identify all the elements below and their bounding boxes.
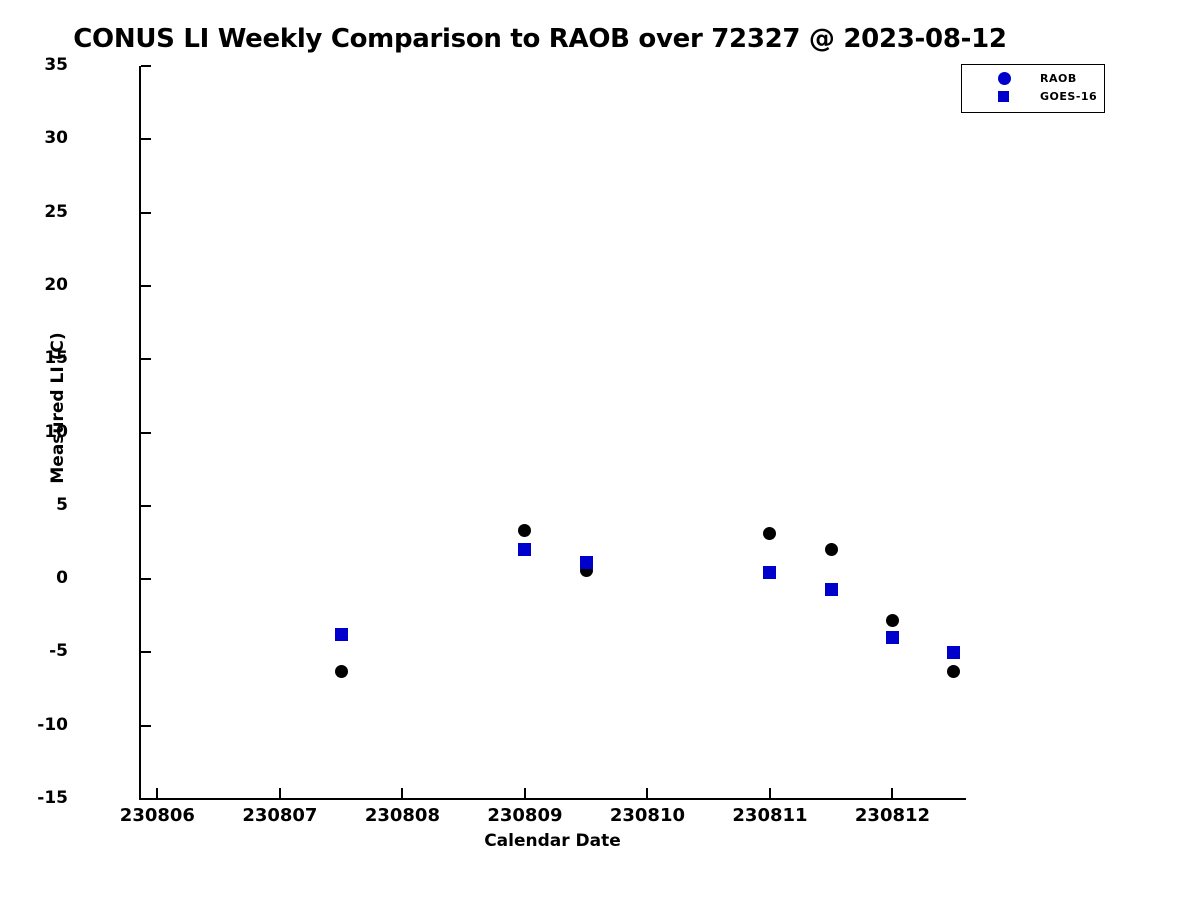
y-tick-label: 25 <box>8 204 68 221</box>
y-axis-title: Measured LI (C) <box>48 318 68 498</box>
x-tick-label: 230806 <box>87 805 227 827</box>
x-tick-label: 230808 <box>332 805 472 827</box>
x-tick-mark <box>769 788 771 798</box>
y-tick-mark <box>141 432 151 434</box>
scatter-chart: CONUS LI Weekly Comparison to RAOB over … <box>0 0 1200 900</box>
legend-item-raob[interactable]: RAOB <box>962 69 1104 89</box>
square-marker-icon <box>998 91 1009 102</box>
chart-title: CONUS LI Weekly Comparison to RAOB over … <box>0 24 1080 54</box>
data-point-raob <box>825 543 838 556</box>
y-tick-label: 30 <box>8 130 68 147</box>
data-point-goes-16 <box>518 543 531 556</box>
data-point-goes-16 <box>825 583 838 596</box>
y-tick-mark <box>141 725 151 727</box>
y-tick-label: 0 <box>8 570 68 587</box>
legend-item-goes-16[interactable]: GOES-16 <box>962 87 1104 107</box>
data-point-raob <box>335 665 348 678</box>
y-tick-label: -10 <box>8 717 68 734</box>
x-axis-line <box>139 798 966 800</box>
x-tick-mark <box>279 788 281 798</box>
data-point-raob <box>947 665 960 678</box>
y-tick-label: -15 <box>8 790 68 807</box>
legend-item-label: GOES-16 <box>1040 90 1097 103</box>
y-tick-label: 20 <box>8 277 68 294</box>
y-tick-mark <box>141 138 151 140</box>
circle-marker-icon <box>998 72 1011 85</box>
data-point-raob <box>886 614 899 627</box>
x-tick-label: 230809 <box>455 805 595 827</box>
y-tick-mark <box>141 65 151 67</box>
data-point-goes-16 <box>886 631 899 644</box>
x-axis-title: Calendar Date <box>139 831 966 851</box>
x-tick-label: 230807 <box>210 805 350 827</box>
x-tick-mark <box>646 788 648 798</box>
y-tick-label: 5 <box>8 497 68 514</box>
x-tick-label: 230812 <box>822 805 962 827</box>
x-tick-mark <box>401 788 403 798</box>
y-tick-mark <box>141 358 151 360</box>
y-tick-mark <box>141 212 151 214</box>
data-point-goes-16 <box>763 566 776 579</box>
legend-item-label: RAOB <box>1040 72 1077 85</box>
y-tick-mark <box>141 651 151 653</box>
y-tick-label: 35 <box>8 57 68 74</box>
chart-legend: RAOBGOES-16 <box>961 64 1105 113</box>
x-tick-mark <box>524 788 526 798</box>
data-point-goes-16 <box>947 646 960 659</box>
data-point-raob <box>518 524 531 537</box>
x-tick-label: 230811 <box>700 805 840 827</box>
data-point-goes-16 <box>580 556 593 569</box>
y-tick-mark <box>141 578 151 580</box>
y-tick-label: -5 <box>8 643 68 660</box>
data-point-raob <box>763 527 776 540</box>
y-tick-mark <box>141 285 151 287</box>
y-tick-mark <box>141 505 151 507</box>
x-tick-mark <box>891 788 893 798</box>
x-tick-label: 230810 <box>577 805 717 827</box>
x-tick-mark <box>156 788 158 798</box>
y-tick-mark <box>141 798 151 800</box>
data-point-goes-16 <box>335 628 348 641</box>
